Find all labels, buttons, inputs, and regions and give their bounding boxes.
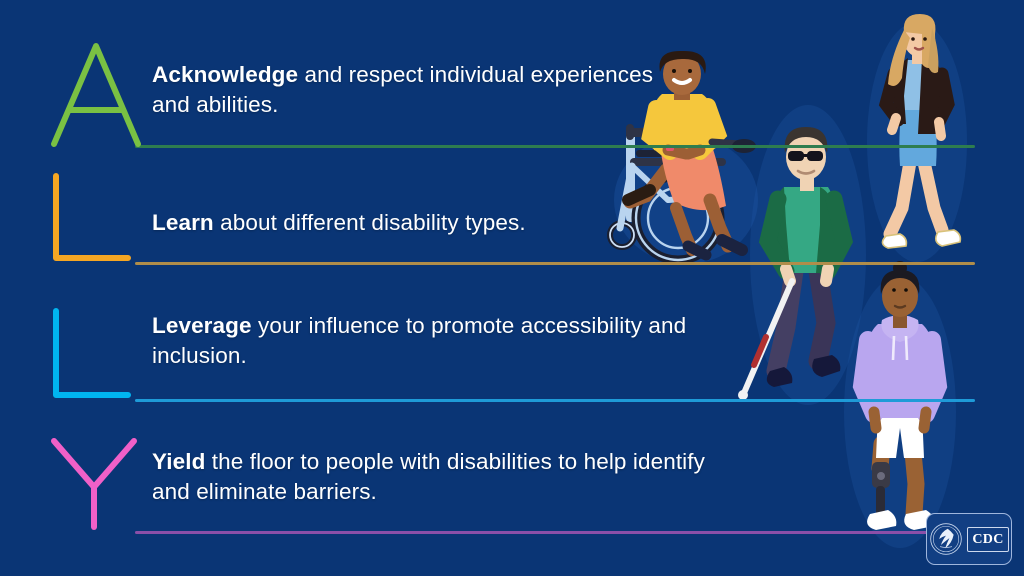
letter-l-1	[48, 172, 144, 262]
poster-canvas: Acknowledge and respect individual exper…	[0, 0, 1024, 576]
letter-y-fork	[54, 441, 134, 487]
row-text-3: Yield the floor to people with disabilit…	[152, 447, 712, 507]
row-keyword-2: Leverage	[152, 313, 252, 338]
row-rest-3: the floor to people with disabilities to…	[152, 449, 705, 504]
letter-l-2	[48, 307, 144, 399]
row-rest-1: about different disability types.	[214, 210, 526, 235]
cdc-wordmark-box: CDC	[967, 527, 1008, 552]
letter-l-2-stroke	[56, 311, 128, 395]
cdc-logo[interactable]: CDC	[926, 513, 1012, 565]
row-text-1: Learn about different disability types.	[152, 208, 526, 238]
row-text-0: Acknowledge and respect individual exper…	[152, 60, 692, 120]
hhs-eagle-seal	[929, 522, 963, 556]
illustration-woman-walking	[862, 12, 972, 264]
row-text-2: Leverage your influence to promote acces…	[152, 311, 692, 371]
letter-a-stroke	[54, 46, 138, 144]
letter-l-1-stroke	[56, 176, 128, 258]
divider-row-1	[135, 262, 975, 265]
divider-row-0	[135, 145, 975, 148]
row-keyword-1: Learn	[152, 210, 214, 235]
row-keyword-3: Yield	[152, 449, 205, 474]
letter-a	[48, 40, 144, 148]
divider-row-2	[135, 399, 975, 402]
letter-y	[48, 437, 144, 531]
row-keyword-0: Acknowledge	[152, 62, 298, 87]
cdc-wordmark: CDC	[972, 532, 1003, 547]
divider-row-3	[135, 531, 975, 534]
